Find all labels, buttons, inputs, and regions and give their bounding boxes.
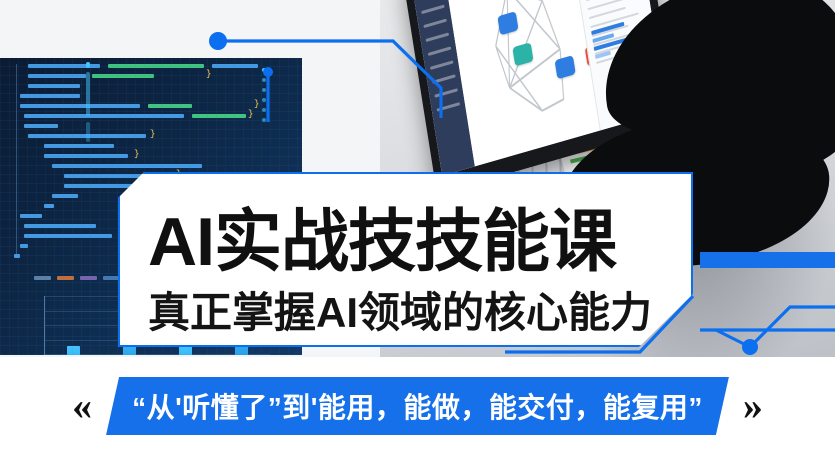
editor-gutter-rail	[16, 64, 17, 254]
code-line	[20, 104, 140, 108]
sidebar-row	[434, 88, 458, 98]
code-line	[20, 94, 80, 98]
chart-legend	[34, 276, 120, 280]
code-line	[92, 74, 154, 78]
tagline-row: « “从'听懂了”到'能用，能做，能交付，能复用” »	[0, 357, 835, 455]
code-line	[24, 224, 96, 228]
code-brace: }	[150, 130, 155, 139]
code-line	[20, 214, 42, 218]
chevron-left-icon: «	[72, 386, 92, 426]
title-card: AI实战技技能课 真正掌握AI领域的核心能力	[118, 172, 693, 347]
code-brace: }	[206, 70, 211, 79]
sidebar-row	[428, 46, 452, 56]
code-line	[24, 234, 112, 238]
sidebar-row	[421, 5, 445, 15]
code-line	[52, 164, 202, 168]
code-brace: }	[134, 150, 139, 159]
code-line	[212, 64, 258, 68]
code-brace: }	[248, 110, 253, 119]
code-line	[28, 134, 146, 138]
page-subtitle: 真正掌握AI领域的核心能力	[148, 279, 652, 340]
sidebar-row	[426, 32, 450, 42]
chart-bar	[179, 346, 192, 355]
sidebar-row	[437, 102, 461, 112]
code-line	[148, 104, 192, 108]
poster-root: }}}}}}}	[0, 0, 835, 455]
chart-bar	[67, 346, 80, 355]
tagline-text: “从'听懂了”到'能用，能做，能交付，能复用”	[132, 386, 703, 426]
code-line	[24, 124, 58, 128]
sidebar-row	[432, 74, 456, 84]
code-line	[24, 114, 184, 118]
code-line	[28, 74, 86, 78]
code-line	[52, 194, 78, 198]
code-line	[44, 204, 54, 208]
chevron-right-icon: »	[743, 386, 763, 426]
code-line	[14, 254, 20, 258]
page-title: AI实战技技能课	[148, 186, 616, 285]
chart-gridline	[45, 354, 270, 355]
code-line	[20, 244, 28, 248]
code-line	[44, 154, 128, 158]
code-line	[192, 114, 246, 118]
code-brace: }	[254, 100, 259, 109]
code-line	[108, 64, 204, 68]
code-line	[28, 84, 80, 88]
sidebar-row	[430, 60, 454, 70]
code-line	[44, 144, 114, 148]
sidebar-row	[423, 19, 447, 29]
code-line	[28, 64, 100, 68]
tagline-ribbon: “从'听懂了”到'能用，能做，能交付，能复用”	[106, 377, 729, 435]
